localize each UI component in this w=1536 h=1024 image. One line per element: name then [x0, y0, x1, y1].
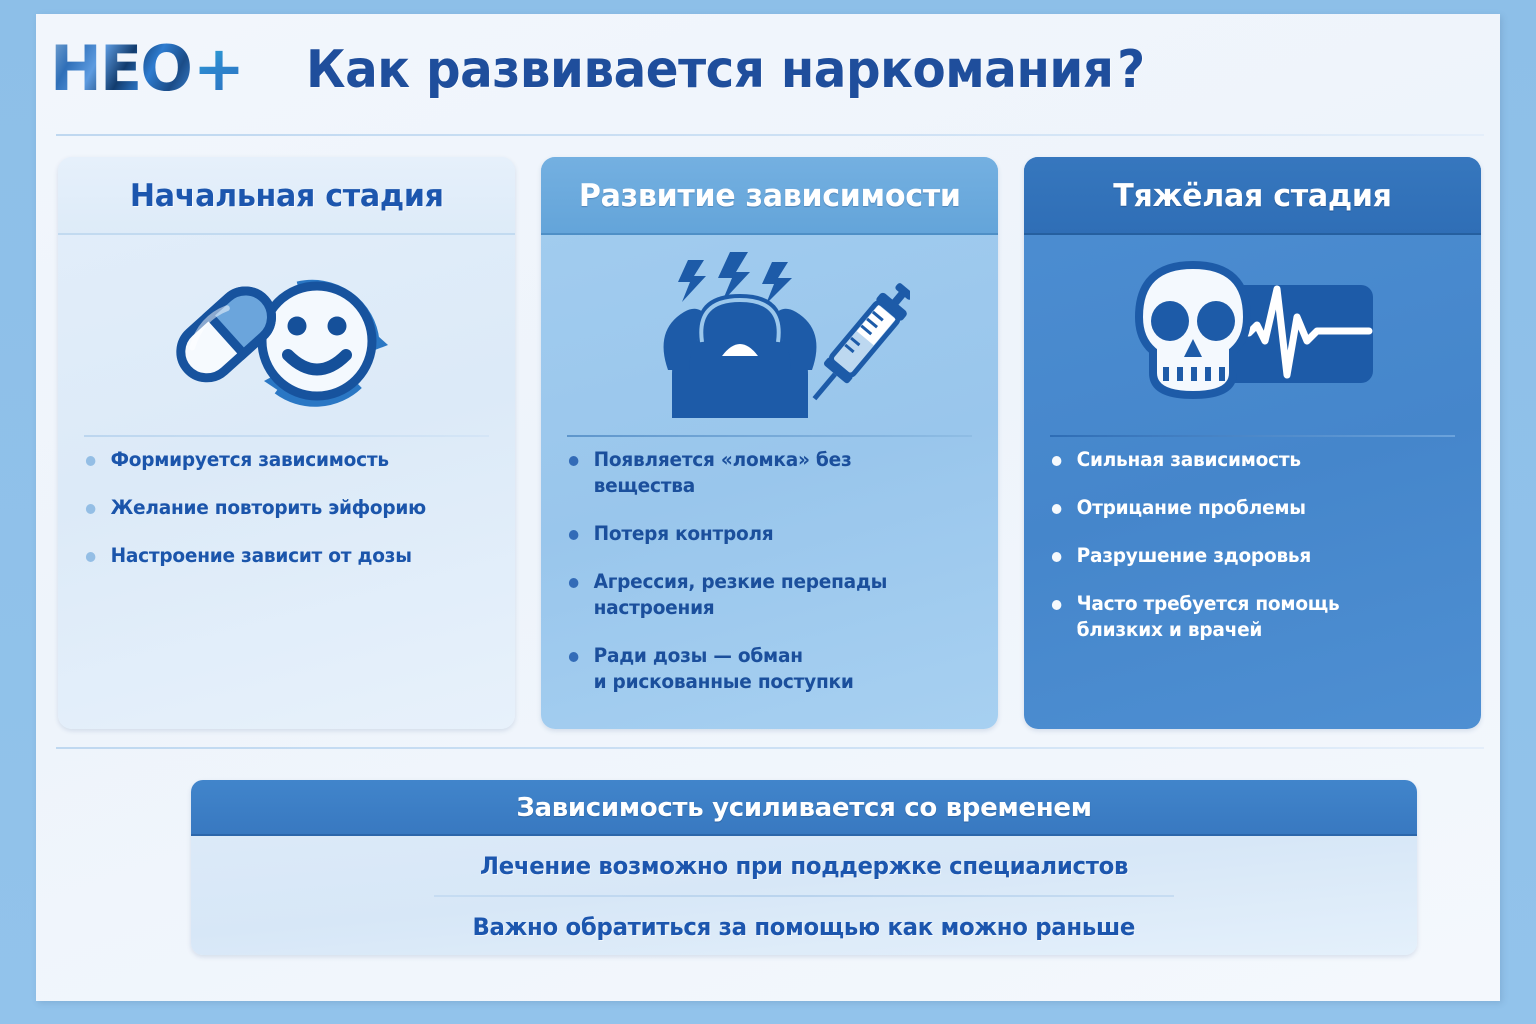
list-item: Отрицание проблемы [1050, 495, 1439, 521]
brand-logo-text: HEO [50, 38, 191, 100]
page-header: HEO + Как развивается наркомания? [36, 14, 1500, 134]
summary-row-treatment: Лечение возможно при поддержке специалис… [191, 836, 1417, 895]
infographic-page: HEO + Как развивается наркомания? Началь… [36, 14, 1500, 1001]
stage-card-initial-body: Формируется зависимость Желание повторит… [58, 235, 515, 729]
stage-card-developing-heading: Развитие зависимости [579, 178, 961, 214]
list-item: Сильная зависимость [1050, 447, 1439, 473]
list-item: Агрессия, резкие перепады настроения [567, 569, 956, 621]
list-item: Потеря контроля [567, 521, 956, 547]
stage-card-severe-divider [1050, 435, 1455, 437]
page-title: Как развивается наркомания? [306, 36, 1145, 104]
stage-card-developing[interactable]: Развитие зависимости [541, 157, 998, 729]
stage-card-developing-body: Появляется «ломка» без вещества Потеря к… [541, 235, 998, 729]
poster-canvas: HEO + Как развивается наркомания? Началь… [0, 0, 1536, 1024]
brand-logo-plus-icon: + [193, 38, 243, 100]
list-item: Появляется «ломка» без вещества [567, 447, 956, 499]
stage-card-severe-body: Сильная зависимость Отрицание проблемы Р… [1024, 235, 1481, 729]
stressed-person-syringe-icon [541, 235, 998, 435]
stage-card-severe[interactable]: Тяжёлая стадия [1024, 157, 1481, 729]
pill-smiley-cycle-icon [58, 235, 515, 435]
stage-card-severe-bullets: Сильная зависимость Отрицание проблемы Р… [1024, 447, 1481, 665]
stage-card-initial-header: Начальная стадия [58, 157, 515, 235]
summary-row-urgency: Важно обратиться за помощью как можно ра… [191, 897, 1417, 955]
list-item: Формируется зависимость [84, 447, 473, 473]
stage-card-developing-header: Развитие зависимости [541, 157, 998, 235]
list-item: Желание повторить эйфорию [84, 495, 473, 521]
stage-card-developing-divider [567, 435, 972, 437]
stage-card-severe-heading: Тяжёлая стадия [1113, 178, 1391, 214]
brand-logo: HEO + [50, 38, 243, 100]
skull-ecg-icon [1024, 235, 1481, 435]
summary-row-urgency-text: Важно обратиться за помощью как можно ра… [473, 913, 1136, 941]
list-item: Разрушение здоровья [1050, 543, 1439, 569]
summary-panel: Зависимость усиливается со временем Лече… [191, 780, 1417, 955]
stage-card-severe-header: Тяжёлая стадия [1024, 157, 1481, 235]
stage-card-developing-bullets: Появляется «ломка» без вещества Потеря к… [541, 447, 998, 717]
stage-card-initial-bullets: Формируется зависимость Желание повторит… [58, 447, 515, 591]
page-title-text: Как развивается наркомания [306, 40, 1113, 100]
stage-cards-row: Начальная стадия [58, 157, 1482, 729]
stage-card-initial-divider [84, 435, 489, 437]
page-title-question-mark: ? [1117, 40, 1145, 100]
header-divider [56, 134, 1484, 136]
list-item: Настроение зависит от дозы [84, 543, 473, 569]
summary-panel-heading: Зависимость усиливается со временем [191, 780, 1417, 836]
summary-row-treatment-text: Лечение возможно при поддержке специалис… [480, 852, 1128, 880]
list-item: Часто требуется помощь близких и врачей [1050, 591, 1439, 643]
list-item: Ради дозы — обман и рискованные поступки [567, 643, 956, 695]
stage-card-initial-heading: Начальная стадия [130, 178, 444, 214]
footer-divider-rule [56, 747, 1484, 749]
stage-card-initial[interactable]: Начальная стадия [58, 157, 515, 729]
